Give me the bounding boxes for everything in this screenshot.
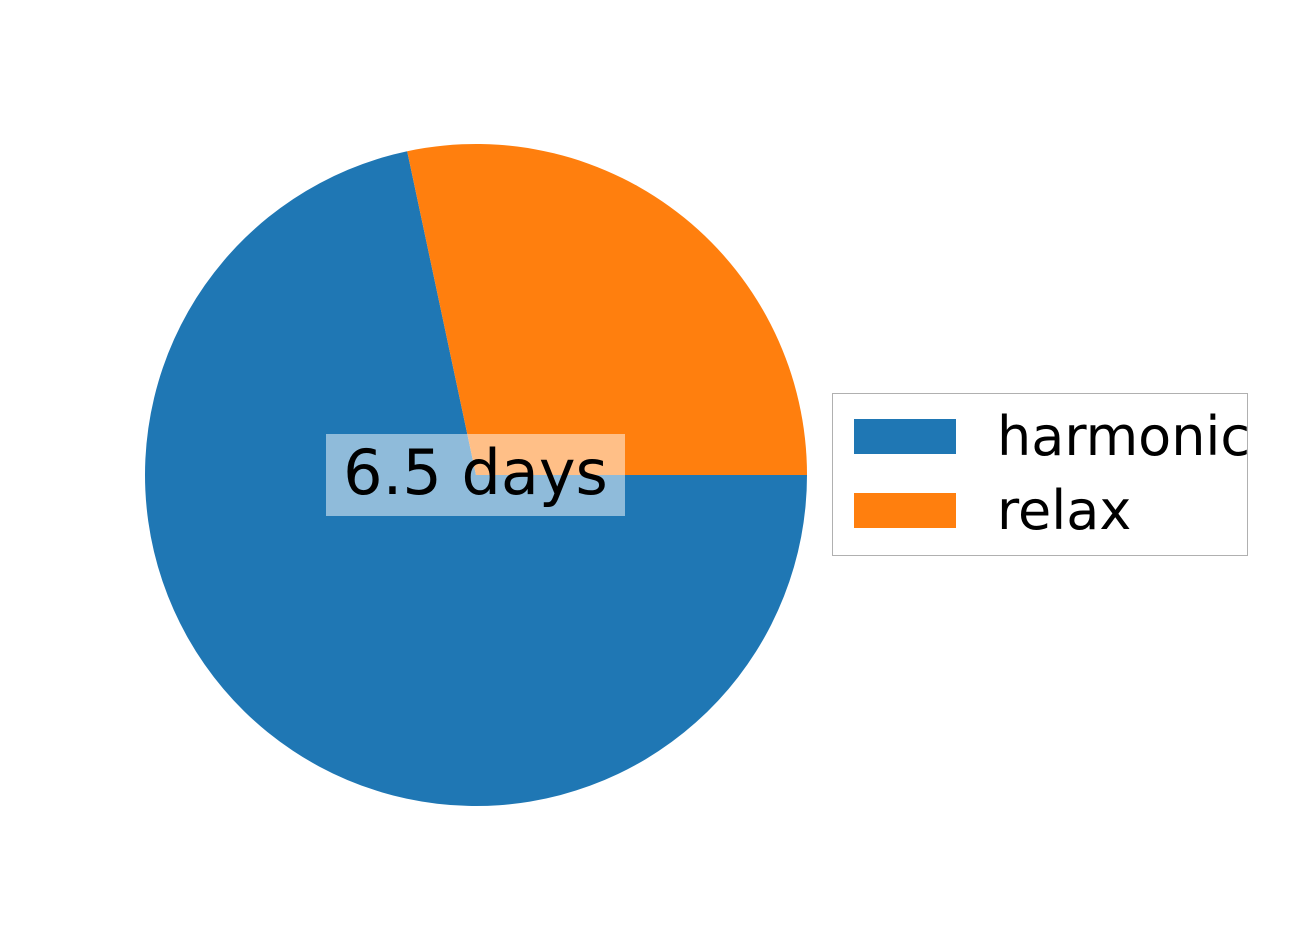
pie-center-label-highlight: 6.5 days bbox=[326, 434, 625, 516]
pie-wedge-relax[interactable] bbox=[407, 144, 807, 475]
pie-chart-figure: 6.5 days harmonic relax bbox=[0, 0, 1307, 951]
legend-swatch-harmonic bbox=[854, 419, 956, 454]
legend-label-harmonic: harmonic bbox=[997, 407, 1250, 467]
legend-label-relax: relax bbox=[997, 481, 1131, 541]
legend-swatch-relax bbox=[854, 493, 956, 528]
legend-entry-relax[interactable]: relax bbox=[833, 489, 1247, 563]
pie-center-label: 6.5 days bbox=[343, 442, 608, 504]
legend: harmonic relax bbox=[832, 393, 1248, 556]
legend-entry-harmonic[interactable]: harmonic bbox=[833, 415, 1247, 489]
